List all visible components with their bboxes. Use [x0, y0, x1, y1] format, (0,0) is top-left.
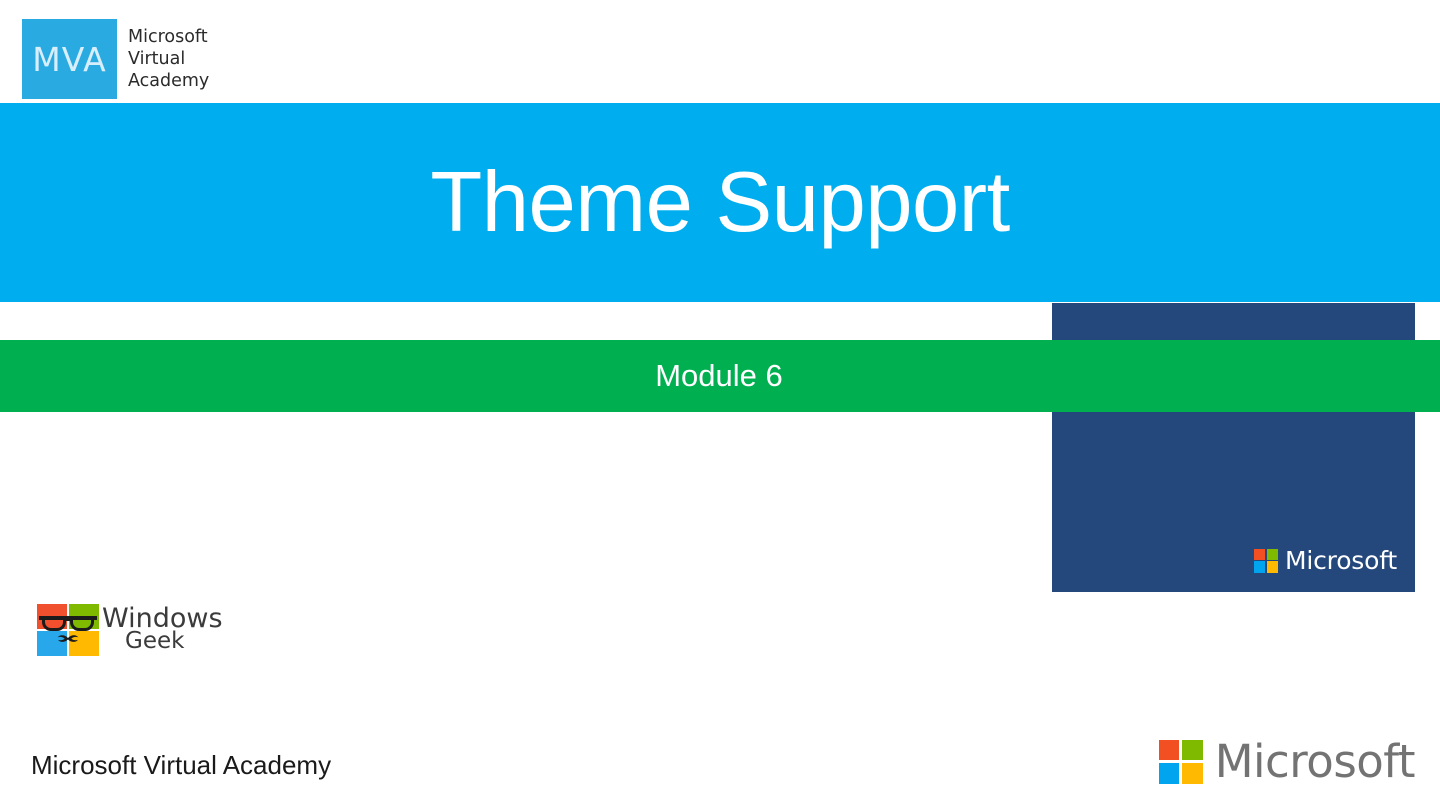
glasses-and-mustache-icon	[37, 604, 99, 656]
mva-wordmark: Microsoft Virtual Academy	[117, 19, 209, 99]
mva-badge: MVA	[22, 19, 117, 99]
mva-wordmark-line-3: Academy	[128, 70, 209, 92]
subtitle-band: Module 6	[0, 340, 1440, 412]
microsoft-square-bottom-right	[1182, 763, 1202, 783]
windows-geek-wordmark: Windows Geek	[102, 606, 223, 654]
microsoft-square-top-left	[1254, 549, 1265, 560]
windows-geek-mark	[37, 604, 99, 656]
mva-badge-label: MVA	[32, 40, 107, 79]
microsoft-square-top-right	[1267, 549, 1278, 560]
microsoft-square-bottom-right	[1267, 561, 1278, 572]
windows-geek-logo: Windows Geek	[37, 604, 223, 656]
slide-title: Theme Support	[430, 160, 1009, 245]
title-band: Theme Support	[0, 103, 1440, 302]
microsoft-logo-footer: Microsoft	[1159, 735, 1415, 788]
microsoft-logo-panel: Microsoft	[1254, 546, 1397, 575]
mva-logo: MVA Microsoft Virtual Academy	[22, 19, 232, 99]
microsoft-square-top-right	[1182, 740, 1202, 760]
microsoft-square-bottom-left	[1159, 763, 1179, 783]
mva-wordmark-line-2: Virtual	[128, 48, 209, 70]
microsoft-square-top-left	[1159, 740, 1179, 760]
microsoft-squares-icon	[1254, 549, 1278, 573]
mva-wordmark-line-1: Microsoft	[128, 26, 209, 48]
microsoft-wordmark-footer: Microsoft	[1215, 735, 1415, 788]
microsoft-square-bottom-left	[1254, 561, 1265, 572]
footer-label: Microsoft Virtual Academy	[31, 750, 331, 781]
slide-subtitle: Module 6	[655, 358, 783, 394]
microsoft-wordmark-panel: Microsoft	[1285, 546, 1397, 575]
microsoft-squares-icon-footer	[1159, 740, 1203, 784]
presentation-slide: MVA Microsoft Virtual Academy Microsoft …	[0, 0, 1440, 810]
windows-geek-line-2: Geek	[125, 629, 223, 654]
